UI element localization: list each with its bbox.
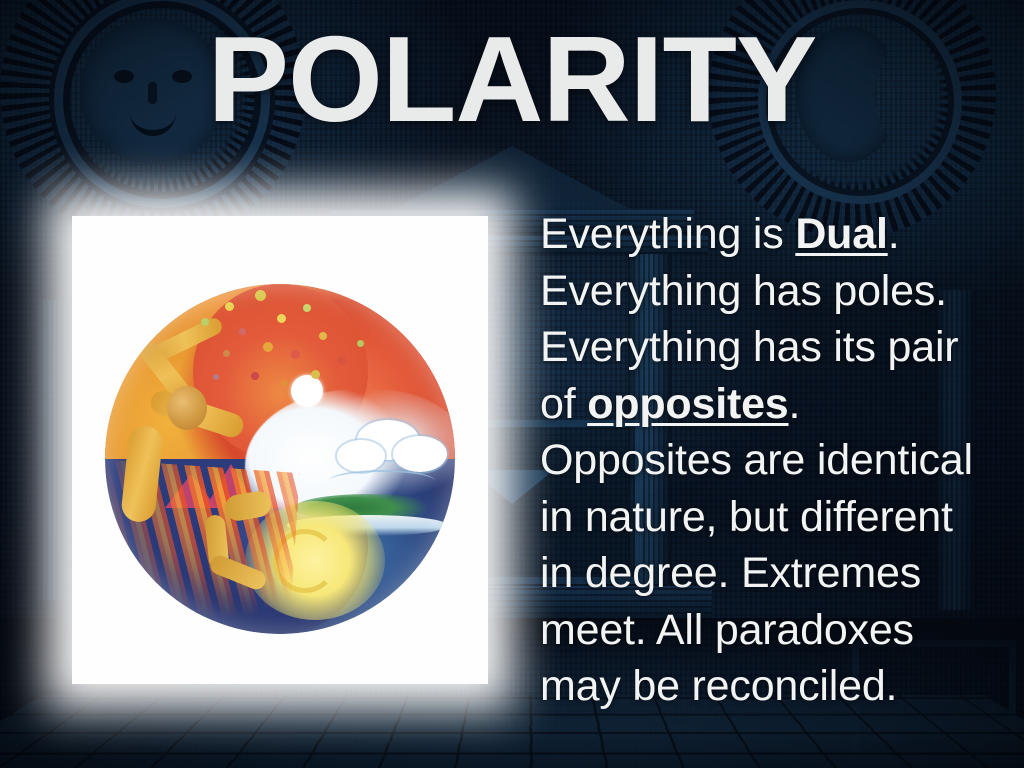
body-paragraph: Everything is Dual.Everything has poles.… xyxy=(540,206,1010,715)
confetti-dot xyxy=(255,290,266,301)
body-text-run: Everything has its pair xyxy=(540,323,958,371)
white-sun-dot xyxy=(291,375,323,407)
body-text-run: may be reconciled. xyxy=(540,662,897,710)
confetti-dot xyxy=(281,380,288,387)
body-text-run: . xyxy=(789,380,801,428)
body-line: of opposites. xyxy=(540,376,1010,433)
confetti-dot xyxy=(251,372,259,380)
water-figure xyxy=(203,515,308,620)
body-text-run: meet. All paradoxes xyxy=(540,606,914,654)
confetti-dot xyxy=(239,328,246,335)
body-line: Everything is Dual. xyxy=(540,206,1010,263)
body-line: in nature, but different xyxy=(540,489,1010,546)
confetti-dot xyxy=(201,318,209,326)
emphasis-term: opposites xyxy=(587,380,788,428)
confetti-dot xyxy=(303,304,311,312)
body-text-run: Opposites are identical xyxy=(540,436,973,484)
confetti-dot xyxy=(311,370,320,379)
body-text-run: . xyxy=(888,210,900,258)
body-line: Opposites are identical xyxy=(540,432,1010,489)
body-text-run: Everything is xyxy=(540,210,795,258)
yin-yang-disc xyxy=(105,284,455,634)
slide-title: POLARITY xyxy=(0,18,1024,140)
cloud-outline xyxy=(329,470,435,492)
confetti-dot xyxy=(319,332,327,340)
body-line: may be reconciled. xyxy=(540,658,1010,715)
body-line: in degree. Extremes xyxy=(540,545,1010,602)
body-line: Everything has poles. xyxy=(540,263,1010,320)
confetti-dot xyxy=(263,342,273,352)
yin-yang-artwork xyxy=(105,284,455,634)
cloud-puff xyxy=(393,436,447,472)
confetti-dot xyxy=(225,302,234,311)
figure-leg xyxy=(120,425,164,524)
body-text-run: Everything has poles. xyxy=(540,267,947,315)
confetti-dot xyxy=(213,374,219,380)
body-text-run: of xyxy=(540,380,587,428)
body-line: Everything has its pair xyxy=(540,319,1010,376)
emphasis-term: Dual xyxy=(795,210,887,258)
body-text-run: in nature, but different xyxy=(540,493,953,541)
confetti-dot xyxy=(277,314,286,323)
figure-head xyxy=(167,386,207,430)
confetti-dot xyxy=(357,340,364,347)
confetti-dot xyxy=(291,350,300,359)
body-line: meet. All paradoxes xyxy=(540,602,1010,659)
confetti-dot xyxy=(223,350,230,357)
cloud-puff xyxy=(337,440,385,472)
confetti-dot xyxy=(337,356,346,365)
body-text-run: in degree. Extremes xyxy=(540,549,921,597)
polarity-slide: POLARITY xyxy=(0,0,1024,768)
curl-arm-lower xyxy=(208,553,269,592)
image-panel xyxy=(72,216,488,684)
